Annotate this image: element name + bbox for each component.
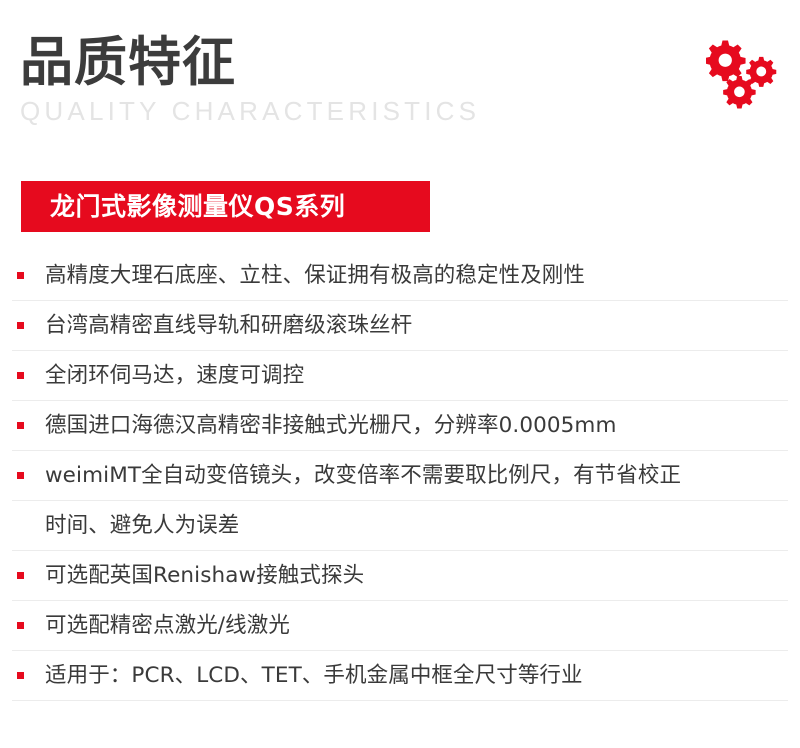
list-item: weimiMT全自动变倍镜头，改变倍率不需要取比例尺，有节省校正 (12, 451, 788, 501)
page-title: 品质特征 (20, 36, 800, 89)
bullet-square-icon (17, 672, 24, 679)
list-item: 适用于：PCR、LCD、TET、手机金属中框全尺寸等行业 (12, 651, 788, 701)
list-item: 可选配精密点激光/线激光 (12, 601, 788, 651)
bullet-square-icon (17, 372, 24, 379)
feature-text: 全闭环伺马达，速度可调控 (45, 365, 304, 387)
feature-list: 高精度大理石底座、立柱、保证拥有极高的稳定性及刚性 台湾高精密直线导轨和研磨级滚… (0, 251, 800, 701)
feature-text: 可选配英国Renishaw接触式探头 (45, 565, 364, 587)
feature-text: 可选配精密点激光/线激光 (45, 615, 290, 637)
product-series-banner: 龙门式影像测量仪QS系列 (21, 181, 430, 232)
list-item: 德国进口海德汉高精密非接触式光栅尺，分辨率0.0005mm (12, 401, 788, 451)
gears-icon (706, 38, 782, 110)
feature-text: weimiMT全自动变倍镜头，改变倍率不需要取比例尺，有节省校正 (45, 465, 681, 487)
feature-text: 高精度大理石底座、立柱、保证拥有极高的稳定性及刚性 (45, 265, 585, 287)
list-item: 可选配英国Renishaw接触式探头 (12, 551, 788, 601)
page-subtitle: QUALITY CHARACTERISTICS (20, 96, 800, 127)
list-item-continuation: 时间、避免人为误差 (12, 501, 788, 551)
bullet-square-icon (17, 272, 24, 279)
page-header: 品质特征 QUALITY CHARACTERISTICS (0, 0, 800, 112)
bullet-square-icon (17, 322, 24, 329)
feature-text: 适用于：PCR、LCD、TET、手机金属中框全尺寸等行业 (45, 665, 583, 687)
bullet-square-icon (17, 622, 24, 629)
bullet-placeholder (17, 522, 24, 529)
bullet-square-icon (17, 572, 24, 579)
feature-text: 台湾高精密直线导轨和研磨级滚珠丝杆 (45, 315, 412, 337)
list-item: 高精度大理石底座、立柱、保证拥有极高的稳定性及刚性 (12, 251, 788, 301)
list-item: 全闭环伺马达，速度可调控 (12, 351, 788, 401)
product-series-label: 龙门式影像测量仪QS系列 (21, 194, 345, 219)
bullet-square-icon (17, 472, 24, 479)
bullet-square-icon (17, 422, 24, 429)
feature-text: 时间、避免人为误差 (45, 515, 239, 537)
feature-text: 德国进口海德汉高精密非接触式光栅尺，分辨率0.0005mm (45, 415, 617, 437)
list-item: 台湾高精密直线导轨和研磨级滚珠丝杆 (12, 301, 788, 351)
